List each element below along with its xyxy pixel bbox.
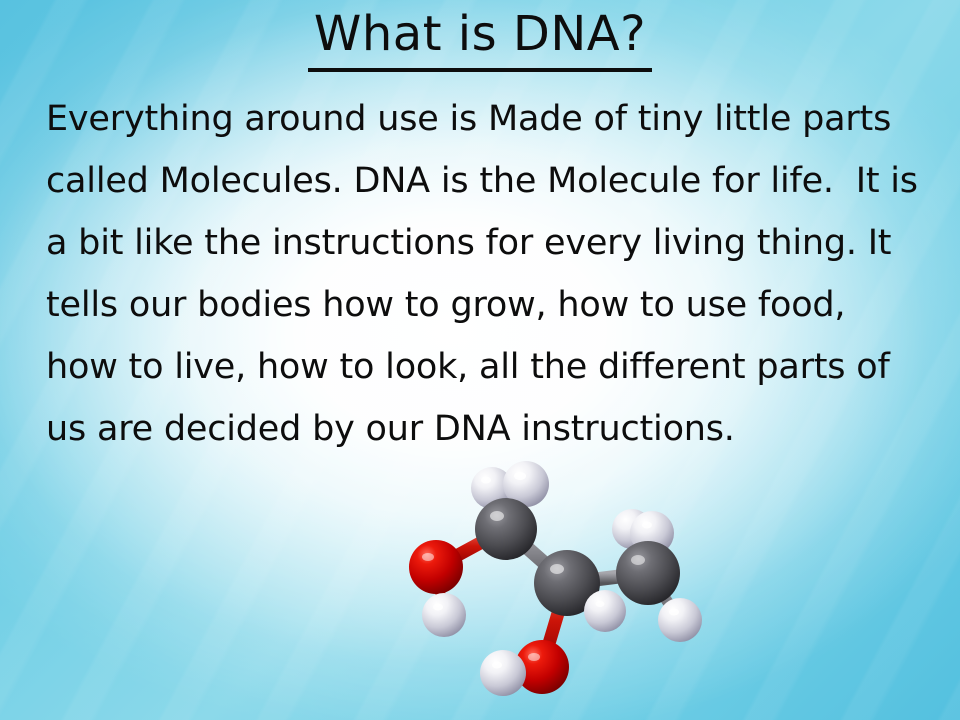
atom-carbon — [475, 498, 537, 560]
slide-canvas: What is DNA? Everything around use is Ma… — [0, 0, 960, 720]
atom-carbon — [616, 541, 680, 605]
molecule-illustration — [400, 455, 730, 720]
atom-oxygen — [409, 540, 463, 594]
atom-hydrogen — [584, 590, 626, 632]
atom-hydrogen — [658, 598, 702, 642]
atom-hydrogen — [480, 650, 526, 696]
molecule-svg — [400, 455, 730, 720]
page-title: What is DNA? — [0, 6, 960, 72]
atom-hydrogen — [422, 593, 466, 637]
molecule-atoms — [409, 461, 702, 696]
page-title-text: What is DNA? — [308, 6, 652, 72]
body-paragraph: Everything around use is Made of tiny li… — [46, 88, 926, 460]
